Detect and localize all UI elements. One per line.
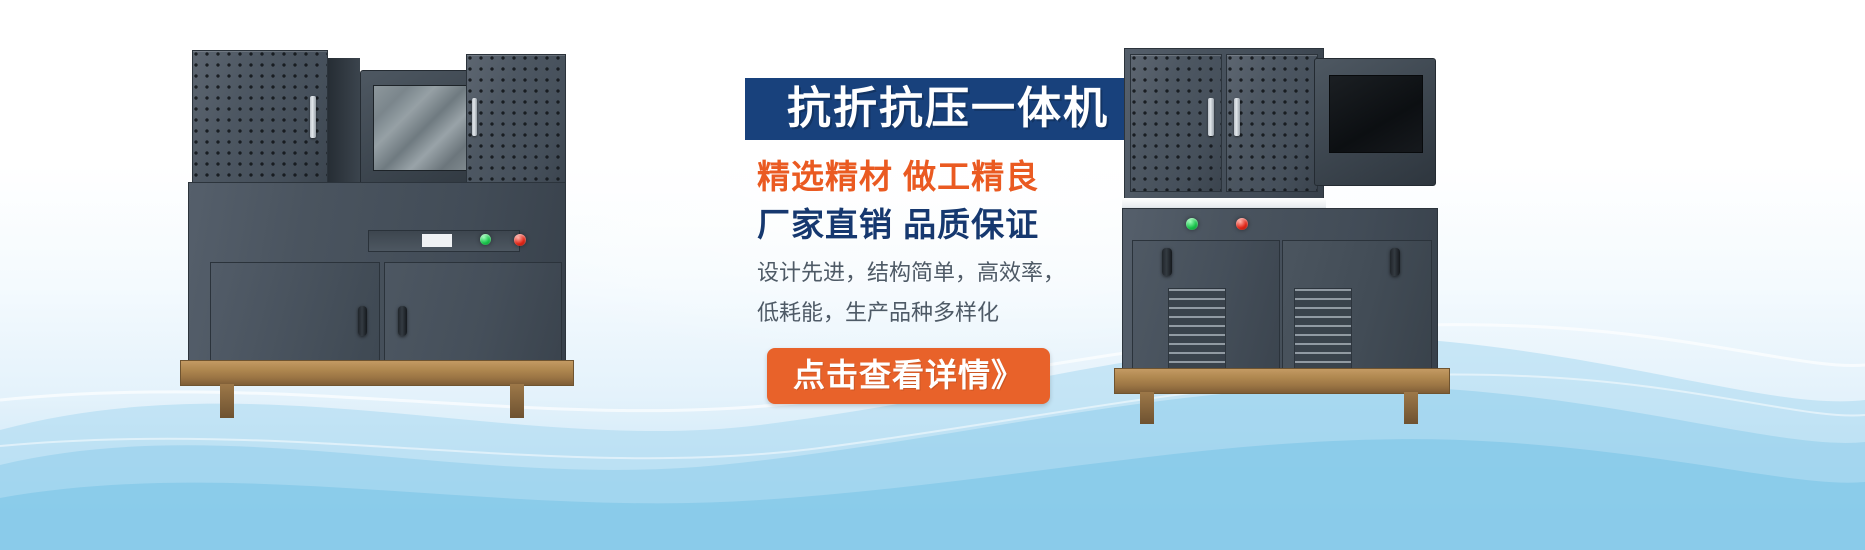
machine-right-lamp-green	[1186, 218, 1198, 230]
description-line-2: 低耗能，生产品种多样化	[757, 302, 1177, 324]
machine-right-pallet	[1114, 368, 1450, 394]
machine-right-pallet-leg-2	[1404, 392, 1418, 424]
machine-left-cabinet-left	[192, 50, 328, 190]
machine-right-monitor-screen	[1329, 75, 1423, 153]
machine-left-pallet-leg-1	[220, 384, 234, 418]
machine-right-cabinet-door-right-handle	[1234, 98, 1240, 136]
machine-left-door-left-handle	[358, 306, 367, 336]
description-line-1: 设计先进，结构简单，高效率，	[757, 262, 1177, 284]
page-title: 抗折抗压一体机	[787, 87, 1109, 131]
machine-left-pallet	[180, 360, 574, 386]
machine-right-door-right-louvers	[1294, 288, 1352, 376]
machine-left	[170, 48, 590, 428]
machine-left-lamp-green	[480, 234, 491, 245]
machine-left-lamp-red	[514, 234, 526, 246]
tagline-navy: 厂家直销 品质保证	[757, 208, 1157, 241]
headline-bar: 抗折抗压一体机	[745, 78, 1151, 140]
machine-right-door-right-handle	[1390, 248, 1400, 276]
tagline-orange: 精选精材 做工精良	[757, 160, 1157, 193]
machine-left-cabinet-right-handle	[472, 98, 477, 136]
machine-left-inner-gap	[328, 58, 360, 190]
banner-text-block: 抗折抗压一体机 精选精材 做工精良 厂家直销 品质保证 设计先进，结构简单，高效…	[735, 70, 1165, 490]
machine-left-cabinet-left-handle	[310, 96, 316, 138]
machine-right-door-left-louvers	[1168, 288, 1226, 376]
machine-right-pallet-leg-1	[1140, 392, 1154, 424]
machine-right-lamp-red	[1236, 218, 1248, 230]
product-banner: 抗折抗压一体机 精选精材 做工精良 厂家直销 品质保证 设计先进，结构简单，高效…	[0, 0, 1865, 550]
machine-left-pallet-leg-2	[510, 384, 524, 418]
machine-right	[1118, 48, 1478, 428]
machine-left-door-right-handle	[398, 306, 407, 336]
view-details-button[interactable]: 点击查看详情》	[767, 348, 1050, 404]
machine-right-cabinet-door-left-handle	[1208, 98, 1214, 136]
view-details-button-label: 点击查看详情》	[793, 357, 1024, 393]
machine-right-monitor	[1314, 58, 1436, 186]
machine-right-door-left-handle	[1162, 248, 1172, 276]
machine-left-cabinet-right	[466, 54, 566, 190]
machine-left-control-panel-label	[422, 234, 452, 247]
